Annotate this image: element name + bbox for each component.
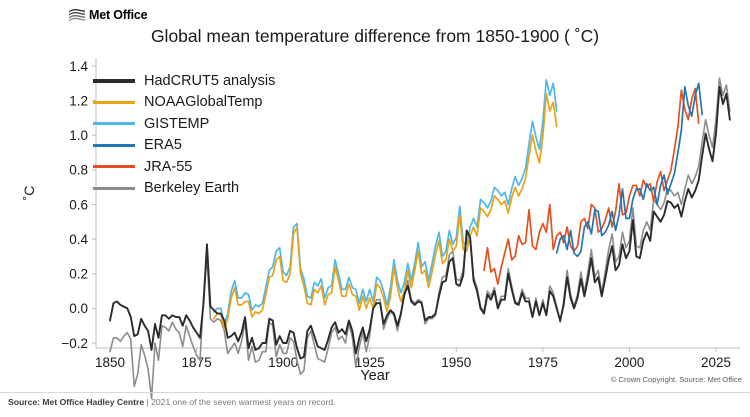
y-axis-tick-label: 1.4	[69, 59, 88, 74]
temperature-line-chart: −0.20.00.20.40.60.81.01.21.4185018751900…	[0, 0, 750, 417]
y-axis-tick-label: −0.2	[61, 336, 88, 351]
legend-item-label: Berkeley Earth	[144, 181, 239, 196]
y-axis-label: ˚C	[21, 178, 37, 208]
legend-color-swatch	[93, 187, 135, 190]
footer-note: Source: Met Office Hadley Centre | 2021 …	[8, 397, 336, 407]
legend-item[interactable]: JRA-55	[93, 156, 275, 178]
legend-item[interactable]: NOAAGlobalTemp	[93, 92, 275, 114]
legend-item[interactable]: HadCRUT5 analysis	[93, 70, 275, 92]
legend-item-label: JRA-55	[144, 160, 192, 175]
y-axis-tick-label: 0.4	[69, 232, 88, 247]
footer-source-label: Source: Met Office Hadley Centre	[8, 397, 144, 407]
legend-color-swatch	[93, 122, 135, 125]
legend-color-swatch	[93, 165, 135, 168]
chart-page: Met Office Global mean temperature diffe…	[0, 0, 750, 417]
legend-color-swatch	[93, 144, 135, 147]
legend-item-label: GISTEMP	[144, 117, 209, 132]
y-axis-tick-label: 1.0	[69, 128, 88, 143]
y-axis-tick-label: 1.2	[69, 93, 88, 108]
footer-divider	[0, 392, 750, 393]
y-axis-tick-label: 0.6	[69, 197, 88, 212]
chart-plot-area: −0.20.00.20.40.60.81.01.21.4185018751900…	[0, 0, 750, 417]
legend-color-swatch	[93, 79, 135, 83]
legend-item[interactable]: Berkeley Earth	[93, 178, 275, 200]
copyright-text: © Crown Copyright. Source: Met Office	[611, 375, 742, 384]
y-axis-tick-label: 0.2	[69, 267, 88, 282]
chart-legend: HadCRUT5 analysisNOAAGlobalTempGISTEMPER…	[93, 70, 275, 199]
legend-item-label: HadCRUT5 analysis	[144, 74, 275, 89]
legend-color-swatch	[93, 101, 135, 104]
legend-item-label: ERA5	[144, 138, 182, 153]
y-axis-tick-label: 0.0	[69, 301, 88, 316]
legend-item[interactable]: GISTEMP	[93, 113, 275, 135]
footer-note-text: 2021 one of the seven warmest years on r…	[151, 397, 335, 407]
legend-item-label: NOAAGlobalTemp	[144, 95, 262, 110]
legend-item[interactable]: ERA5	[93, 135, 275, 157]
y-axis-tick-label: 0.8	[69, 163, 88, 178]
